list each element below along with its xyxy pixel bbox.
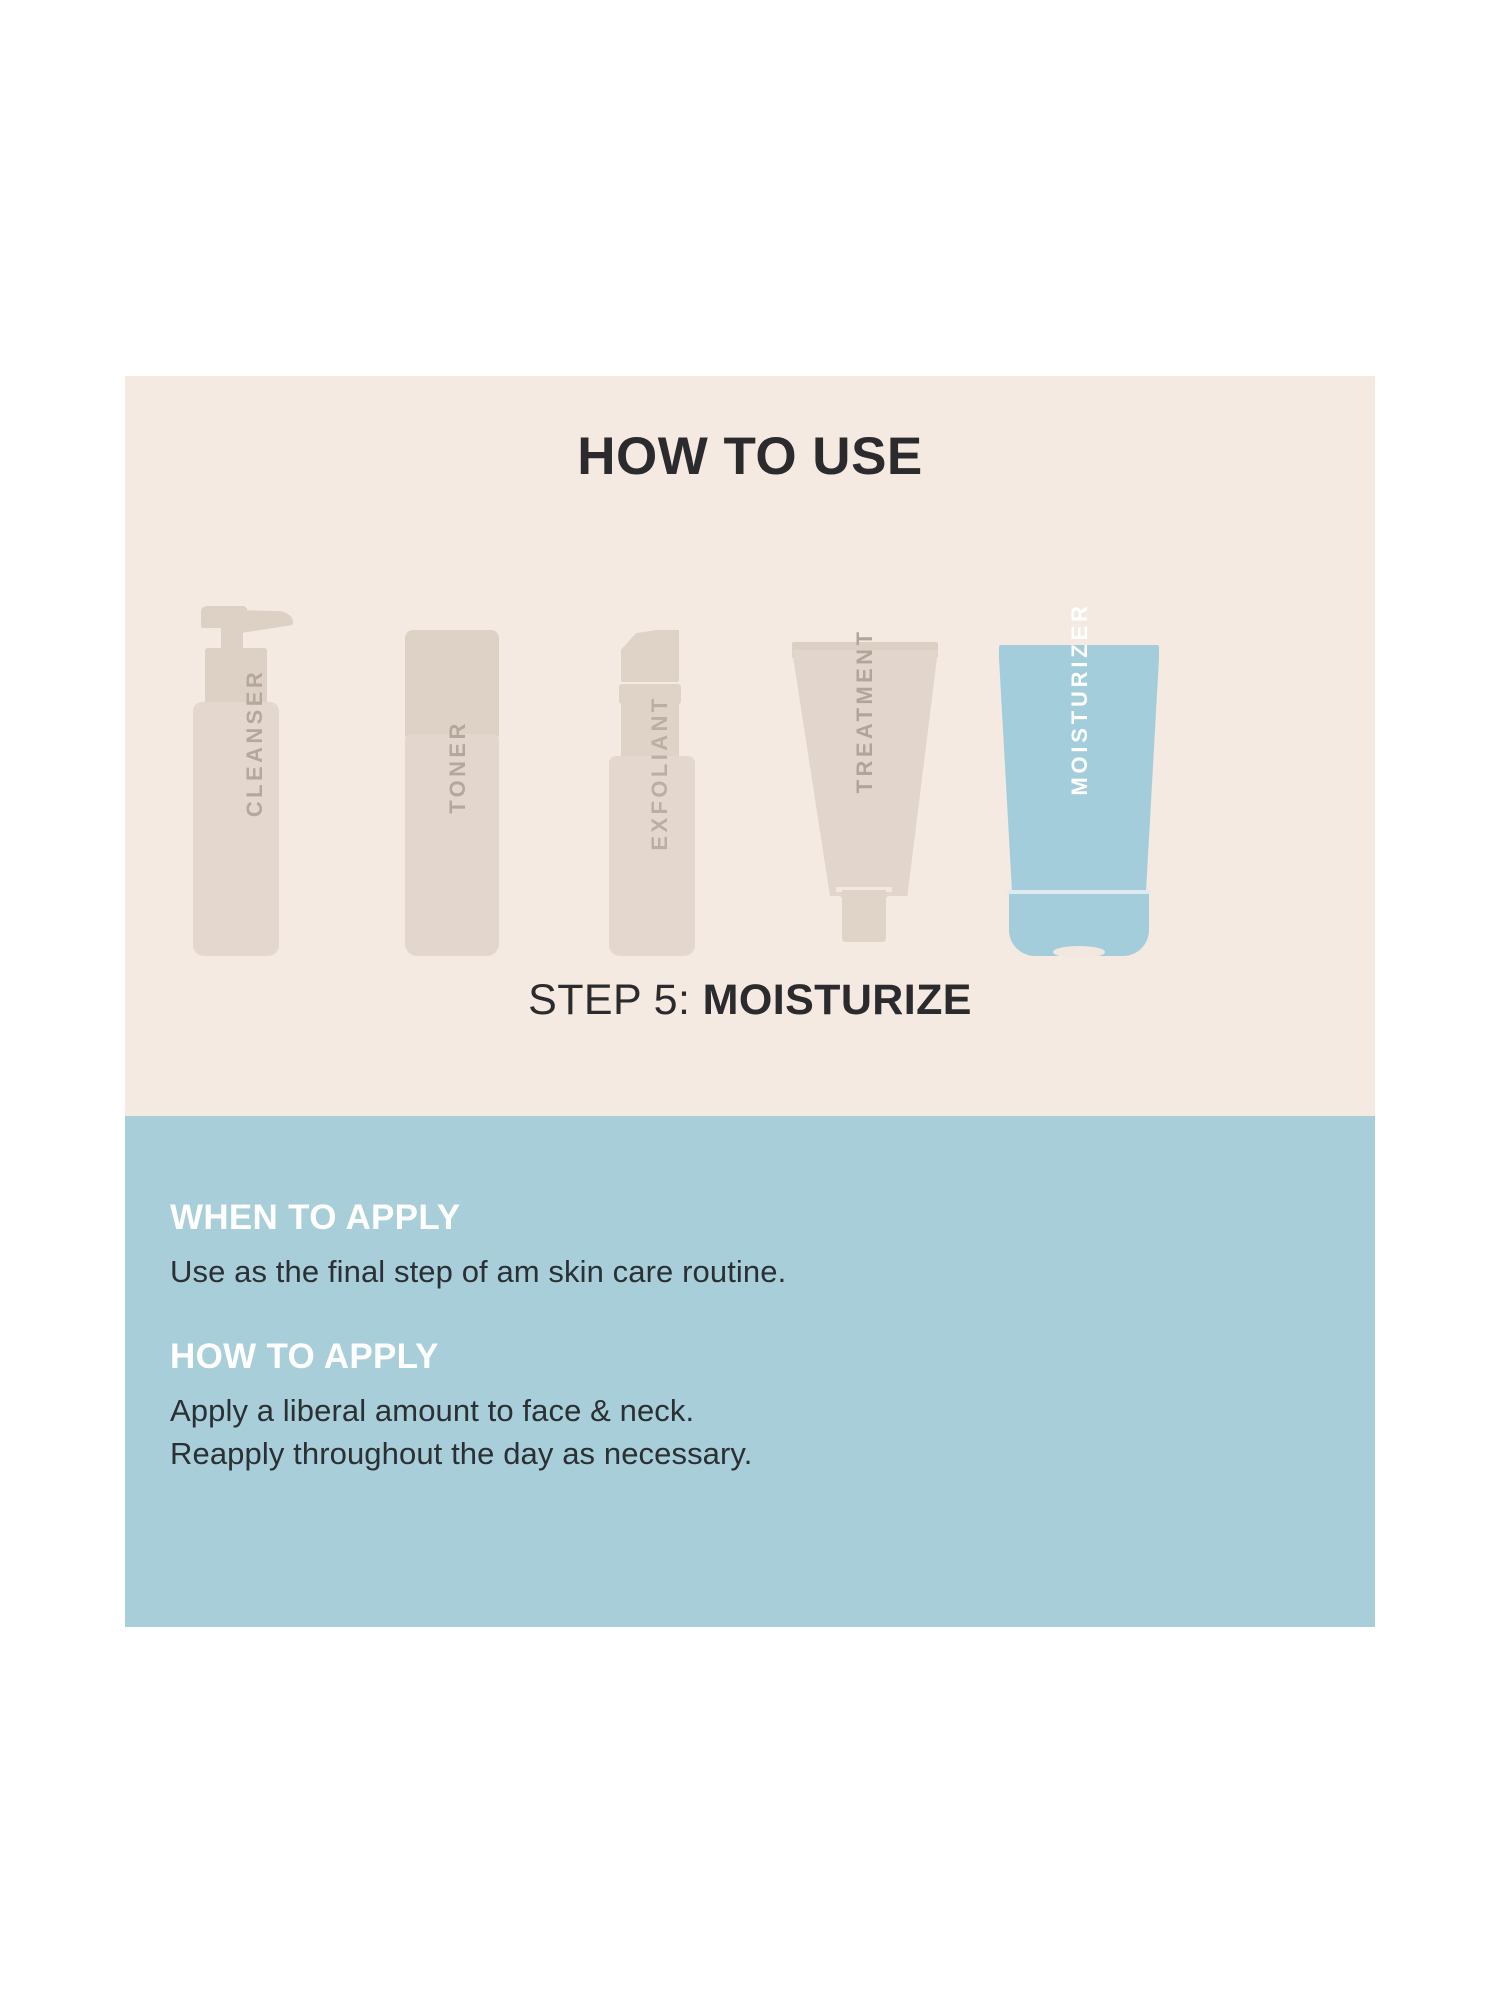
section-when-to-apply: WHEN TO APPLY Use as the final step of a… bbox=[170, 1199, 1270, 1293]
product-label-cleanser: CLEANSER bbox=[242, 669, 268, 817]
section-body-line-2: Reapply throughout the day as necessary. bbox=[170, 1433, 1270, 1476]
product-label-treatment: TREATMENT bbox=[852, 629, 878, 794]
instructions-content: WHEN TO APPLY Use as the final step of a… bbox=[170, 1199, 1270, 1475]
title-container: HOW TO USE bbox=[125, 426, 1375, 487]
page-title: HOW TO USE bbox=[577, 426, 923, 487]
section-heading-how-to-apply: HOW TO APPLY bbox=[170, 1338, 1270, 1377]
section-spacer bbox=[170, 1293, 1270, 1338]
product-cleanser: CLEANSER bbox=[175, 626, 335, 956]
cream-panel: HOW TO USE CLEANSER TON bbox=[125, 376, 1375, 1116]
blue-instructions-panel: WHEN TO APPLY Use as the final step of a… bbox=[125, 1116, 1375, 1627]
tube-band-line-icon bbox=[1007, 890, 1151, 894]
product-label-toner: TONER bbox=[445, 720, 471, 814]
how-to-use-card: HOW TO USE CLEANSER TON bbox=[125, 376, 1375, 1627]
title-rest: TO USE bbox=[708, 427, 923, 486]
airless-pump-head-icon bbox=[621, 630, 679, 682]
step-caption: STEP 5: MOISTURIZE bbox=[125, 976, 1375, 1025]
section-heading-when-to-apply: WHEN TO APPLY bbox=[170, 1199, 1270, 1238]
product-toner: TONER bbox=[383, 626, 533, 956]
product-lineup: CLEANSER TONER EXFOLIANT bbox=[125, 526, 1375, 956]
product-exfoliant: EXFOLIANT bbox=[585, 626, 735, 956]
title-highlight-word: HOW bbox=[577, 426, 708, 487]
section-how-to-apply: HOW TO APPLY Apply a liberal amount to f… bbox=[170, 1338, 1270, 1475]
product-label-moisturizer: MOISTURIZER bbox=[1067, 602, 1093, 795]
section-body-when-to-apply: Use as the final step of am skin care ro… bbox=[170, 1251, 1270, 1294]
product-treatment: TREATMENT bbox=[780, 626, 950, 956]
section-body-line-1: Apply a liberal amount to face & neck. bbox=[170, 1390, 1270, 1433]
product-moisturizer: MOISTURIZER bbox=[985, 626, 1175, 956]
step-name: MOISTURIZE bbox=[703, 976, 972, 1024]
product-label-exfoliant: EXFOLIANT bbox=[647, 695, 673, 850]
tube-nozzle-icon bbox=[842, 890, 886, 942]
tube-base-notch-icon bbox=[1053, 946, 1105, 958]
infographic-canvas: HOW TO USE CLEANSER TON bbox=[0, 0, 1500, 2000]
section-body-how-to-apply: Apply a liberal amount to face & neck. R… bbox=[170, 1390, 1270, 1476]
step-prefix: STEP 5: bbox=[528, 976, 703, 1024]
